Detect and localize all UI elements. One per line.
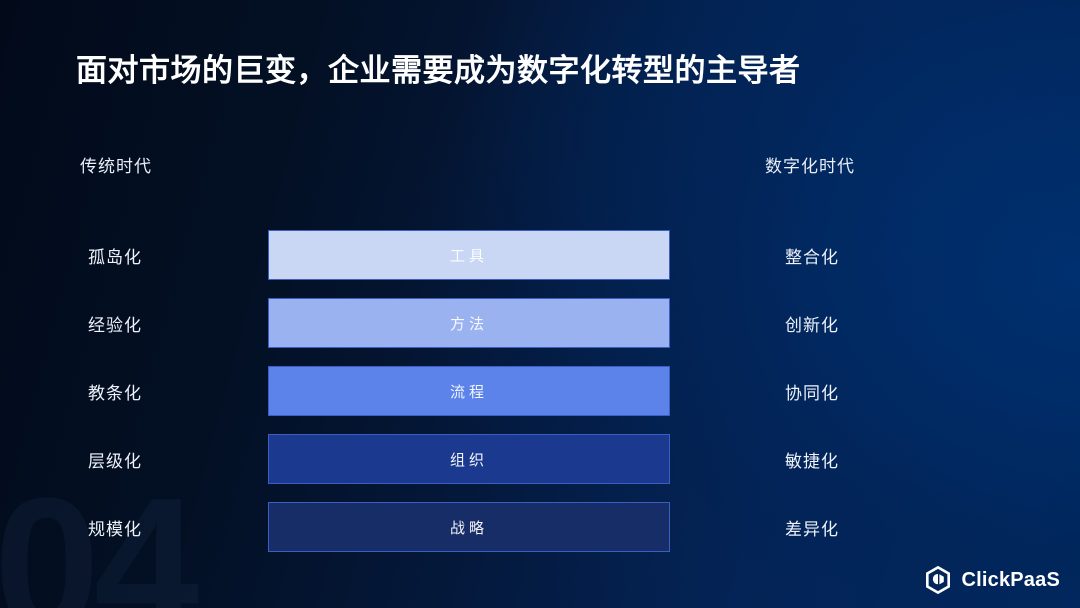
- center-bar-label-2: 流程: [450, 381, 488, 402]
- center-bar-label-0: 工具: [450, 245, 488, 266]
- table-row: 经验化 方法 创新化: [0, 298, 1080, 348]
- center-bar-label-3: 组织: [450, 449, 488, 470]
- left-label-0: 孤岛化: [88, 230, 142, 280]
- right-label-1: 创新化: [785, 298, 839, 348]
- logo-text: ClickPaaS: [961, 569, 1060, 592]
- center-bar-4[interactable]: 战略: [268, 502, 670, 552]
- hexagon-cube-icon: [924, 566, 952, 594]
- right-label-4: 差异化: [785, 502, 839, 552]
- center-bar-label-4: 战略: [450, 517, 488, 538]
- column-header-digital: 数字化时代: [765, 152, 855, 177]
- page-title: 面对市场的巨变，企业需要成为数字化转型的主导者: [76, 45, 801, 90]
- center-bar-label-1: 方法: [450, 313, 488, 334]
- left-label-3: 层级化: [88, 434, 142, 484]
- center-bar-0[interactable]: 工具: [268, 230, 670, 280]
- center-bar-2[interactable]: 流程: [268, 366, 670, 416]
- column-header-traditional: 传统时代: [80, 152, 152, 177]
- center-bar-3[interactable]: 组织: [268, 434, 670, 484]
- clickpaas-logo: ClickPaaS: [924, 566, 1060, 594]
- left-label-2: 教条化: [88, 366, 142, 416]
- table-row: 教条化 流程 协同化: [0, 366, 1080, 416]
- left-label-1: 经验化: [88, 298, 142, 348]
- left-label-4: 规模化: [88, 502, 142, 552]
- right-label-0: 整合化: [785, 230, 839, 280]
- comparison-rows: 孤岛化 工具 整合化 经验化 方法 创新化 教条化 流程 协同化 层级化 组织: [0, 230, 1080, 570]
- table-row: 层级化 组织 敏捷化: [0, 434, 1080, 484]
- table-row: 规模化 战略 差异化: [0, 502, 1080, 552]
- right-label-2: 协同化: [785, 366, 839, 416]
- slide-canvas: 04 面对市场的巨变，企业需要成为数字化转型的主导者 传统时代 数字化时代 孤岛…: [0, 0, 1080, 608]
- table-row: 孤岛化 工具 整合化: [0, 230, 1080, 280]
- center-bar-1[interactable]: 方法: [268, 298, 670, 348]
- right-label-3: 敏捷化: [785, 434, 839, 484]
